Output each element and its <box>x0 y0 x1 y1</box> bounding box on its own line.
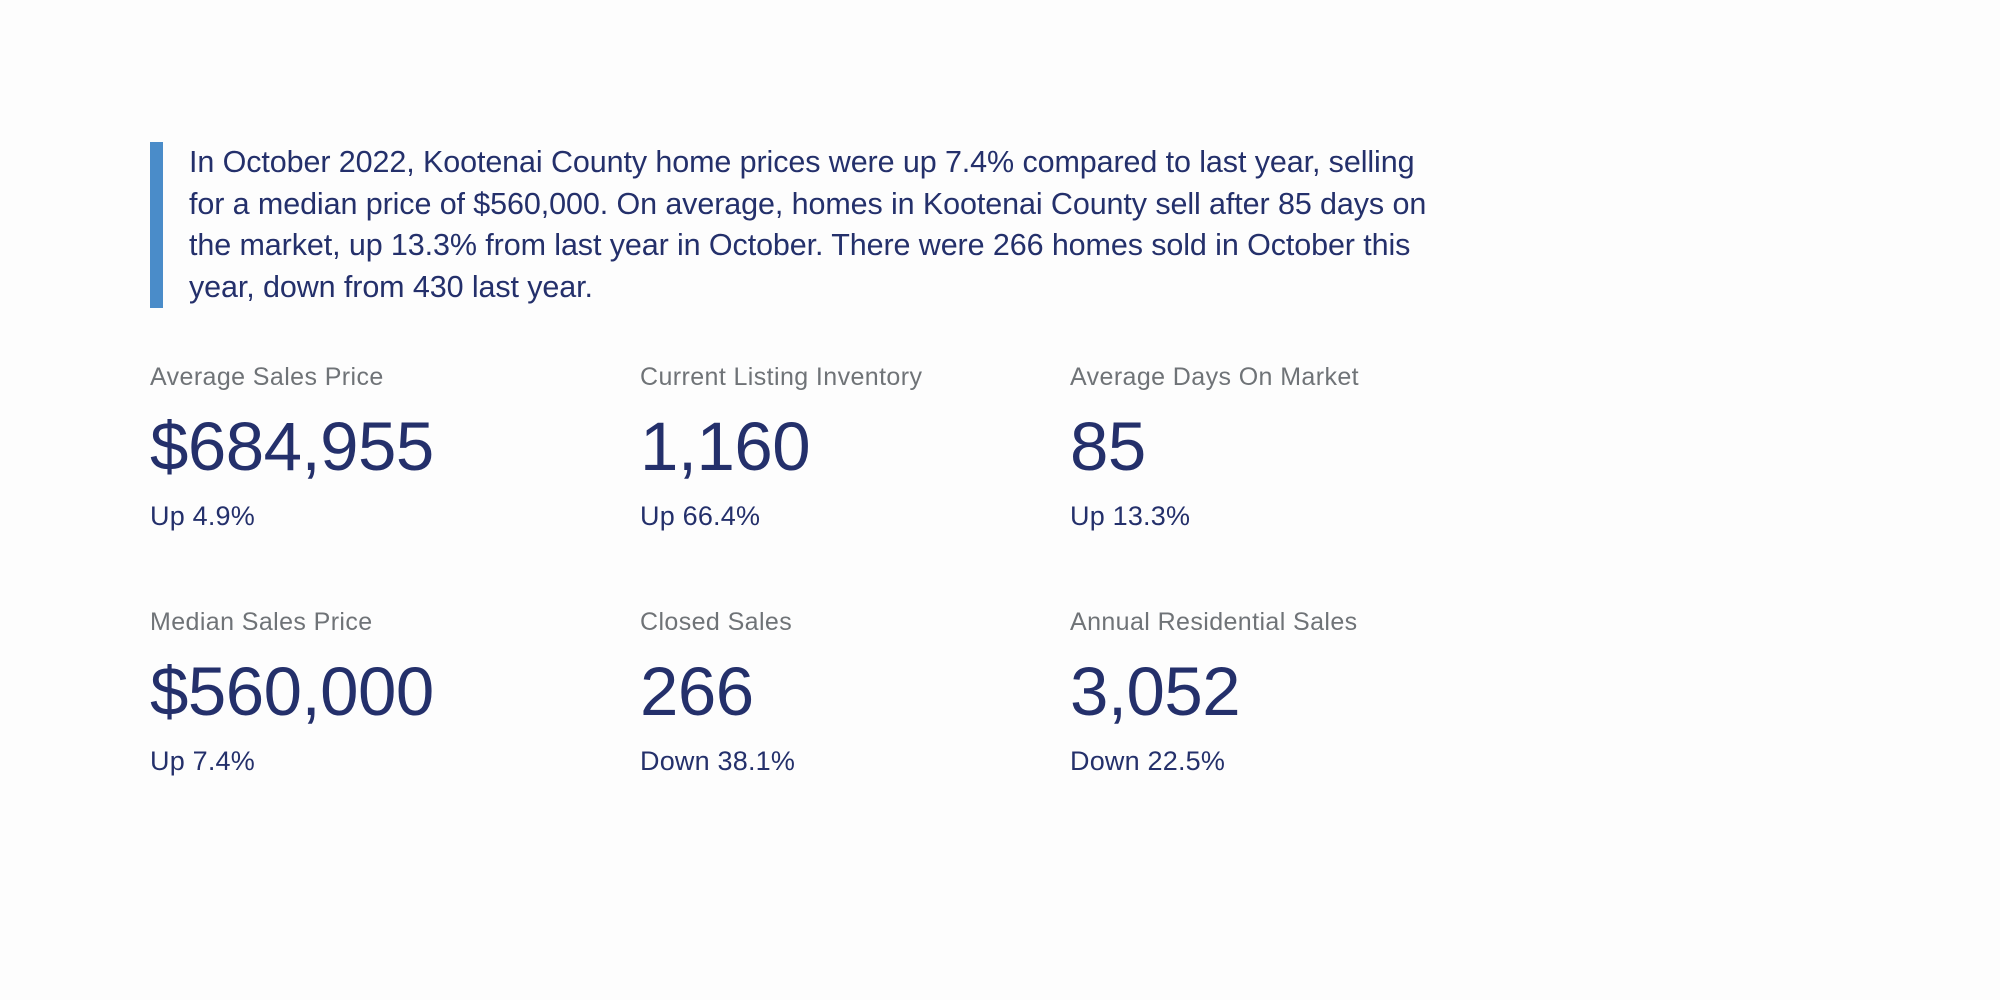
stat-label: Average Sales Price <box>150 362 384 392</box>
stat-change: Down 38.1% <box>640 745 795 777</box>
stat-value: 266 <box>640 652 754 732</box>
stat-card-annual-residential-sales: Annual Residential Sales 3,052 Down 22.5… <box>1070 607 1570 852</box>
stat-change: Down 22.5% <box>1070 745 1225 777</box>
accent-bar <box>150 142 163 308</box>
stat-card-average-sales-price: Average Sales Price $684,955 Up 4.9% <box>150 362 640 607</box>
stat-card-closed-sales: Closed Sales 266 Down 38.1% <box>640 607 1070 852</box>
stat-label: Annual Residential Sales <box>1070 607 1358 637</box>
market-stats-grid: Average Sales Price $684,955 Up 4.9% Cur… <box>150 362 1570 852</box>
stat-value: 1,160 <box>640 407 810 487</box>
stat-label: Current Listing Inventory <box>640 362 922 392</box>
stat-value: 85 <box>1070 407 1146 487</box>
stat-value: 3,052 <box>1070 652 1240 732</box>
market-report-page: In October 2022, Kootenai County home pr… <box>0 0 2000 1000</box>
stat-label: Median Sales Price <box>150 607 373 637</box>
stat-card-current-listing-inventory: Current Listing Inventory 1,160 Up 66.4% <box>640 362 1070 607</box>
stat-label: Closed Sales <box>640 607 792 637</box>
stat-card-average-days-on-market: Average Days On Market 85 Up 13.3% <box>1070 362 1570 607</box>
stat-change: Up 13.3% <box>1070 500 1190 532</box>
stat-change: Up 7.4% <box>150 745 255 777</box>
stat-change: Up 4.9% <box>150 500 255 532</box>
stat-change: Up 66.4% <box>640 500 760 532</box>
market-summary-callout: In October 2022, Kootenai County home pr… <box>150 142 1450 308</box>
market-summary-text: In October 2022, Kootenai County home pr… <box>163 142 1449 308</box>
stat-card-median-sales-price: Median Sales Price $560,000 Up 7.4% <box>150 607 640 852</box>
stat-value: $684,955 <box>150 407 434 487</box>
stat-label: Average Days On Market <box>1070 362 1359 392</box>
stat-value: $560,000 <box>150 652 434 732</box>
